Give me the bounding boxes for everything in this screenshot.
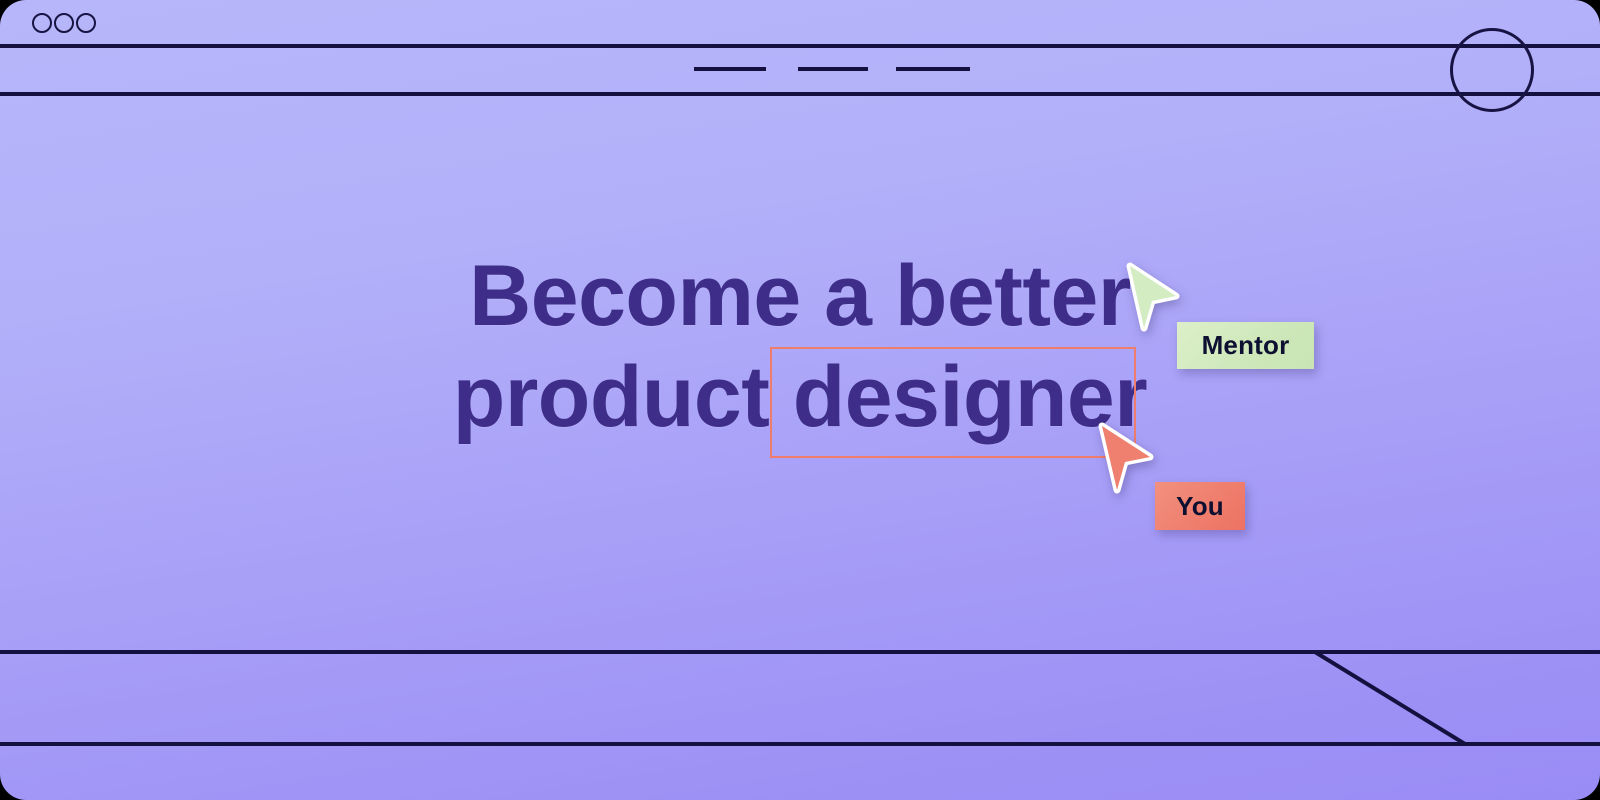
navbar-divider [0,92,1600,96]
nav-item-placeholder-3[interactable] [896,67,970,71]
titlebar-divider [0,44,1600,48]
browser-window-mockup: Become a better product designer Mentor … [0,0,1600,800]
collaborator-label-mentor: Mentor [1177,322,1314,369]
nav-item-placeholder-1[interactable] [694,67,766,71]
mouse-pointer-icon [1096,422,1158,494]
nav-item-placeholder-2[interactable] [798,67,868,71]
maximize-dot-icon[interactable] [76,13,96,33]
collaborator-label-you: You [1155,482,1245,530]
diagonal-line-accent [1280,640,1480,754]
footer-divider-bottom [0,742,1600,746]
avatar-circle-icon[interactable] [1450,28,1534,112]
close-dot-icon[interactable] [32,13,52,33]
minimize-dot-icon[interactable] [54,13,74,33]
text-selection-box[interactable] [770,347,1136,458]
footer-divider-top [0,650,1600,654]
mouse-pointer-icon [1124,262,1184,332]
